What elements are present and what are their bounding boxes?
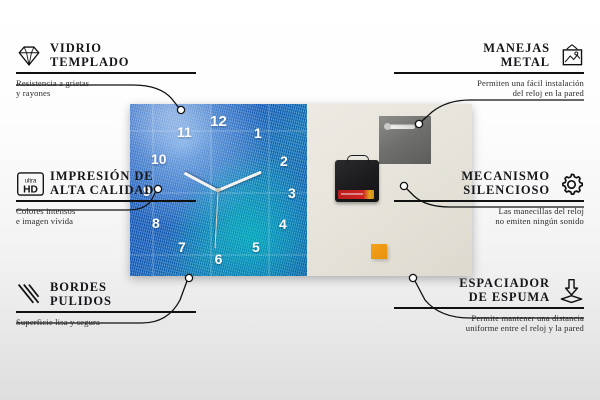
clock-hand-minute <box>217 171 262 192</box>
clock-numeral-1: 1 <box>254 126 262 140</box>
bevel-lines-icon <box>16 282 42 308</box>
feature-divider <box>394 72 584 74</box>
feature-title-line2: SILENCIOSO <box>463 183 550 197</box>
feature-divider <box>394 200 584 202</box>
feature-header: BORDES PULIDOS <box>16 281 196 308</box>
feature-desc-line1: Permiten una fácil instalación <box>477 78 584 88</box>
feature-title: MECANISMO SILENCIOSO <box>461 170 550 197</box>
arrow-onto-pad-icon <box>558 278 584 304</box>
feature-title: ESPACIADOR DE ESPUMA <box>459 277 550 304</box>
feature-desc-line2: uniforme entre el reloj y la pared <box>466 323 584 333</box>
feature-mecanismo-silencioso[interactable]: MECANISMO SILENCIOSO Las manecillas del … <box>394 170 584 227</box>
feature-desc-line2: no emiten ningún sonido <box>495 216 584 226</box>
clock-numeral-5: 5 <box>252 240 260 254</box>
feature-title: MANEJAS METAL <box>483 42 550 69</box>
feature-espaciador-espuma[interactable]: ESPACIADOR DE ESPUMA Permite mantener un… <box>394 277 584 334</box>
mechanism-hook <box>347 155 369 163</box>
feature-header: ESPACIADOR DE ESPUMA <box>394 277 584 304</box>
feature-header: MECANISMO SILENCIOSO <box>394 170 584 197</box>
feature-header: VIDRIO TEMPLADO <box>16 42 196 69</box>
feature-title-line1: MANEJAS <box>483 41 550 55</box>
foam-spacer <box>371 244 387 259</box>
picture-frame-icon <box>558 43 584 69</box>
feature-desc-line2: del reloj en la pared <box>513 88 584 98</box>
feature-desc-line1: Permite mantener una distancia <box>471 313 584 323</box>
diamond-icon <box>16 43 42 69</box>
ultra-hd-icon: ultra HD <box>16 171 42 197</box>
feature-description: Las manecillas del reloj no emiten ningú… <box>394 206 584 227</box>
infographic-canvas: 12 1 2 3 4 5 6 7 8 9 10 11 <box>0 0 600 400</box>
feature-impresion-alta-calidad[interactable]: ultra HD IMPRESIÓN DE ALTA CALIDAD Color… <box>16 170 196 227</box>
feature-title-line2: PULIDOS <box>50 294 112 308</box>
feature-divider <box>16 72 196 74</box>
battery <box>338 190 374 199</box>
feature-title: IMPRESIÓN DE ALTA CALIDAD <box>50 170 154 197</box>
ultra-hd-icon-large-text: HD <box>23 184 38 195</box>
feature-vidrio-templado[interactable]: VIDRIO TEMPLADO Resistencia a grietas y … <box>16 42 196 99</box>
feature-title-line1: IMPRESIÓN DE <box>50 169 154 183</box>
feature-title-line2: ALTA CALIDAD <box>50 183 154 197</box>
feature-description: Resistencia a grietas y rayones <box>16 78 196 99</box>
feature-description: Superficie lisa y segura <box>16 317 196 328</box>
feature-title-line1: BORDES <box>50 280 107 294</box>
feature-divider <box>16 311 196 313</box>
gear-icon <box>558 171 584 197</box>
feature-desc-line1: Resistencia a grietas <box>16 78 89 88</box>
hanger-keyhole-slot <box>389 124 415 129</box>
feature-description: Permiten una fácil instalación del reloj… <box>394 78 584 99</box>
clock-numeral-6: 6 <box>215 252 223 266</box>
clock-center-pin <box>216 188 220 192</box>
feature-desc-line1: Las manecillas del reloj <box>499 206 584 216</box>
clock-numeral-11: 11 <box>177 125 192 139</box>
feature-divider <box>394 307 584 309</box>
clock-numeral-12: 12 <box>210 114 227 129</box>
clock-numeral-10: 10 <box>151 152 167 166</box>
feature-desc-line1: Colores intensos <box>16 206 75 216</box>
metal-hanger-plate <box>379 116 431 164</box>
feature-header: ultra HD IMPRESIÓN DE ALTA CALIDAD <box>16 170 196 197</box>
feature-title-line2: TEMPLADO <box>50 55 129 69</box>
feature-header: MANEJAS METAL <box>394 42 584 69</box>
clock-numeral-4: 4 <box>279 217 287 231</box>
feature-title-line1: ESPACIADOR <box>459 276 550 290</box>
feature-bordes-pulidos[interactable]: BORDES PULIDOS Superficie lisa y segura <box>16 281 196 327</box>
feature-description: Permite mantener una distancia uniforme … <box>394 313 584 334</box>
feature-title-line1: VIDRIO <box>50 41 102 55</box>
ultra-hd-icon-small-text: ultra <box>25 178 37 184</box>
clock-mechanism-housing <box>335 160 379 202</box>
clock-hand-second <box>214 191 218 249</box>
feature-description: Colores intensos e imagen vívida <box>16 206 196 227</box>
feature-desc-line2: e imagen vívida <box>16 216 73 226</box>
clock-numeral-2: 2 <box>280 154 288 168</box>
feature-title: BORDES PULIDOS <box>50 281 112 308</box>
feature-desc-line1: Superficie lisa y segura <box>16 317 100 327</box>
feature-title-line2: DE ESPUMA <box>469 290 550 304</box>
clock-numeral-3: 3 <box>288 186 296 200</box>
feature-title-line2: METAL <box>501 55 550 69</box>
feature-title: VIDRIO TEMPLADO <box>50 42 129 69</box>
feature-manejas-metal[interactable]: MANEJAS METAL Permiten una fácil instala… <box>394 42 584 99</box>
feature-desc-line2: y rayones <box>16 88 51 98</box>
feature-title-line1: MECANISMO <box>461 169 550 183</box>
feature-divider <box>16 200 196 202</box>
clock-numeral-7: 7 <box>178 240 186 254</box>
